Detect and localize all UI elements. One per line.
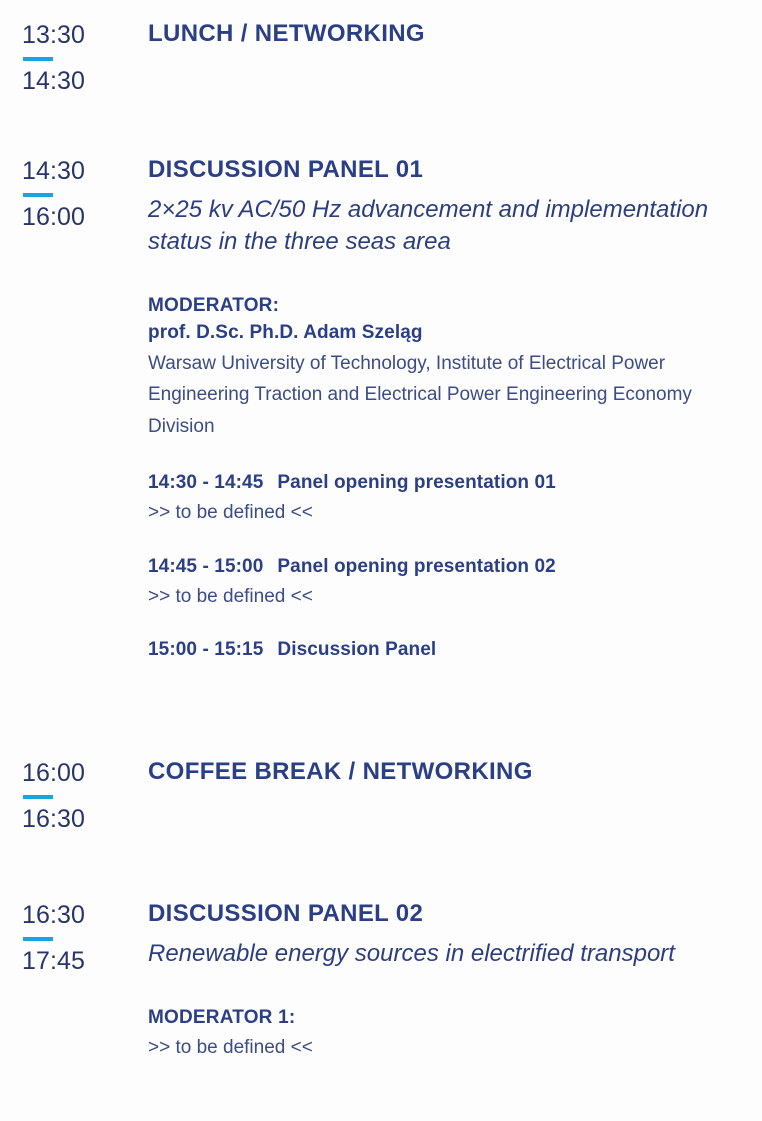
- agenda-block-lunch: 13:30 14:30 LUNCH / NETWORKING: [0, 18, 762, 98]
- start-time: 16:30: [22, 899, 148, 933]
- session-item: 14:30 - 14:45Panel opening presentation …: [148, 470, 750, 527]
- session-heading: 14:45 - 15:00Panel opening presentation …: [148, 554, 750, 581]
- session-item: 14:45 - 15:00Panel opening presentation …: [148, 554, 750, 611]
- session-heading: 14:30 - 14:45Panel opening presentation …: [148, 470, 750, 497]
- moderator-group: MODERATOR 1: >> to be defined <<: [148, 1004, 750, 1064]
- content-column: LUNCH / NETWORKING: [148, 18, 762, 49]
- session-list: 14:30 - 14:45Panel opening presentation …: [148, 470, 750, 664]
- block-spacer: [0, 664, 762, 756]
- session-time-range: 14:45 - 15:00: [148, 556, 263, 577]
- moderator-name: prof. D.Sc. Ph.D. Adam Szeląg: [148, 319, 750, 347]
- moderator-label: MODERATOR 1:: [148, 1004, 750, 1032]
- agenda-block-panel-02: 16:30 17:45 DISCUSSION PANEL 02 Renewabl…: [0, 898, 762, 1064]
- block-spacer: [0, 836, 762, 898]
- time-divider-rule: [23, 193, 53, 197]
- session-speaker: >> to be defined <<: [148, 583, 750, 612]
- start-time: 16:00: [22, 757, 148, 791]
- time-column: 13:30 14:30: [22, 18, 148, 98]
- session-item: 15:00 - 15:15Discussion Panel: [148, 637, 750, 664]
- content-column: COFFEE BREAK / NETWORKING: [148, 756, 762, 787]
- time-column: 16:30 17:45: [22, 898, 148, 978]
- session-time-range: 15:00 - 15:15: [148, 639, 263, 660]
- time-column: 14:30 16:00: [22, 154, 148, 234]
- block-subtitle: 2×25 kv AC/50 Hz advancement and impleme…: [148, 194, 748, 258]
- block-title: DISCUSSION PANEL 02: [148, 900, 750, 929]
- agenda-block-panel-01: 14:30 16:00 DISCUSSION PANEL 01 2×25 kv …: [0, 154, 762, 664]
- time-divider-rule: [23, 795, 53, 799]
- content-column: DISCUSSION PANEL 02 Renewable energy sou…: [148, 898, 762, 1064]
- session-name: Discussion Panel: [277, 639, 436, 660]
- block-spacer: [0, 98, 762, 154]
- session-name: Panel opening presentation 01: [277, 472, 555, 493]
- time-divider-rule: [23, 57, 53, 61]
- agenda-block-coffee-break: 16:00 16:30 COFFEE BREAK / NETWORKING: [0, 756, 762, 836]
- block-subtitle: Renewable energy sources in electrified …: [148, 938, 748, 970]
- start-time: 14:30: [22, 155, 148, 189]
- moderator-affiliation: Warsaw University of Technology, Institu…: [148, 348, 748, 443]
- time-divider-rule: [23, 937, 53, 941]
- end-time: 17:45: [22, 945, 148, 979]
- block-title: LUNCH / NETWORKING: [148, 20, 750, 49]
- session-time-range: 14:30 - 14:45: [148, 472, 263, 493]
- moderator-label: MODERATOR:: [148, 292, 750, 320]
- block-title: COFFEE BREAK / NETWORKING: [148, 758, 750, 787]
- start-time: 13:30: [22, 19, 148, 53]
- session-heading: 15:00 - 15:15Discussion Panel: [148, 637, 750, 664]
- content-column: DISCUSSION PANEL 01 2×25 kv AC/50 Hz adv…: [148, 154, 762, 664]
- moderator-group: MODERATOR: prof. D.Sc. Ph.D. Adam Szeląg…: [148, 292, 750, 443]
- time-column: 16:00 16:30: [22, 756, 148, 836]
- moderator-tbd: >> to be defined <<: [148, 1033, 750, 1063]
- end-time: 16:00: [22, 201, 148, 235]
- session-speaker: >> to be defined <<: [148, 499, 750, 528]
- end-time: 16:30: [22, 803, 148, 837]
- session-name: Panel opening presentation 02: [277, 556, 555, 577]
- block-title: DISCUSSION PANEL 01: [148, 156, 750, 185]
- end-time: 14:30: [22, 65, 148, 99]
- conference-agenda: 13:30 14:30 LUNCH / NETWORKING 14:30 16:…: [0, 0, 762, 1064]
